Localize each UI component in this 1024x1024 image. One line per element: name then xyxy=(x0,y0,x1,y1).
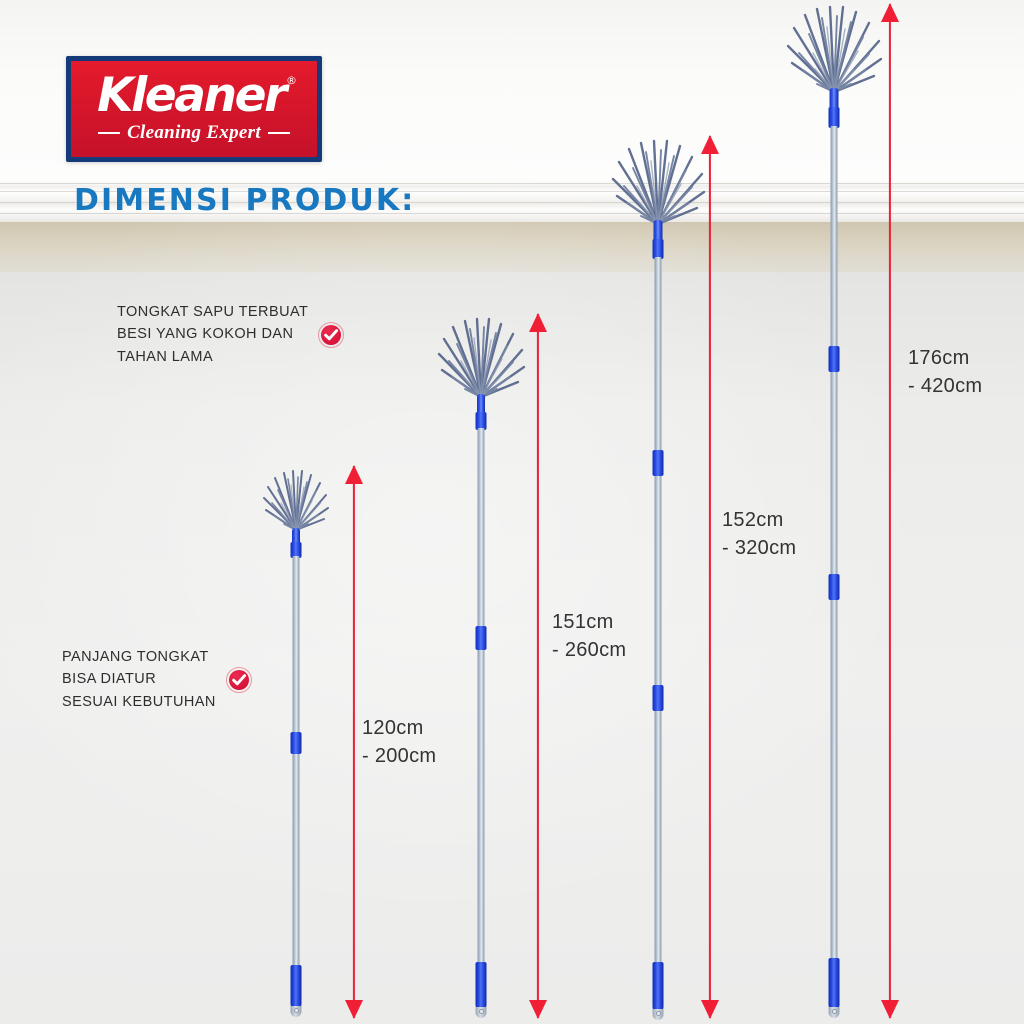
dimension-label-1: 120cm - 200cm xyxy=(362,714,436,771)
duster-pole xyxy=(293,556,300,980)
dash-right-decor xyxy=(268,132,290,134)
duster-grip xyxy=(291,965,302,1009)
duster-collar xyxy=(829,107,840,128)
duster-grip xyxy=(476,962,487,1010)
dimension-label-4: 176cm - 420cm xyxy=(908,344,982,401)
pole-joint xyxy=(829,346,840,372)
duster-pole xyxy=(831,126,838,976)
duster-4 xyxy=(792,6,876,1024)
pole-joint xyxy=(653,450,664,476)
dimension-arrow-1 xyxy=(344,466,364,1018)
duster-collar xyxy=(653,239,664,259)
pole-joint xyxy=(653,685,664,711)
dimension-label-3: 152cm - 320cm xyxy=(722,506,796,563)
duster-grip xyxy=(829,958,840,1010)
duster-endcap xyxy=(829,1007,840,1018)
brand-name: Kleaner xyxy=(97,72,285,119)
pole-joint xyxy=(829,574,840,600)
duster-pole xyxy=(478,428,485,980)
dimension-arrow-4 xyxy=(880,4,900,1018)
annotation-adjustable: PANJANG TONGKAT BISA DIATUR SESUAI KEBUT… xyxy=(62,646,252,713)
pole-joint xyxy=(291,732,302,754)
duster-endcap xyxy=(653,1009,664,1020)
duster-3 xyxy=(616,140,700,1024)
duster-neck xyxy=(477,394,485,414)
annotation-material-text: TONGKAT SAPU TERBUAT BESI YANG KOKOH DAN… xyxy=(117,301,308,368)
duster-grip xyxy=(653,962,664,1012)
dimension-arrow-3 xyxy=(700,136,720,1018)
duster-pole xyxy=(655,257,662,980)
brand-tagline: Cleaning Expert xyxy=(127,122,261,144)
page-title: DIMENSI PRODUK: xyxy=(74,183,415,218)
check-icon xyxy=(318,322,344,348)
dash-left-decor xyxy=(98,132,120,134)
dimension-arrow-2 xyxy=(528,314,548,1018)
registered-mark: ® xyxy=(286,74,297,87)
duster-2 xyxy=(444,318,518,1024)
duster-endcap xyxy=(476,1007,487,1018)
duster-endcap xyxy=(291,1006,302,1017)
pole-joint xyxy=(476,626,487,650)
brand-logo: ® Kleaner Cleaning Expert xyxy=(66,56,322,162)
dimension-label-2: 151cm - 260cm xyxy=(552,608,626,665)
duster-1 xyxy=(266,470,326,1024)
annotation-material: TONGKAT SAPU TERBUAT BESI YANG KOKOH DAN… xyxy=(117,301,344,368)
annotation-adjustable-text: PANJANG TONGKAT BISA DIATUR SESUAI KEBUT… xyxy=(62,646,216,713)
check-icon xyxy=(226,667,252,693)
